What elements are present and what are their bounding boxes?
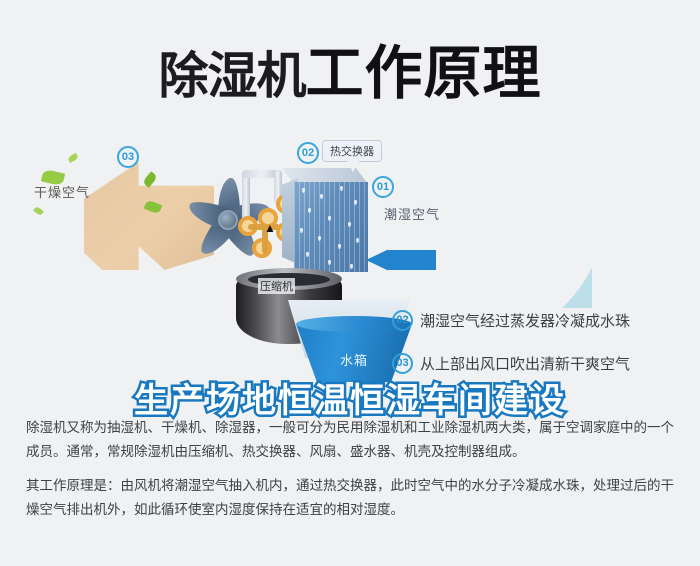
fan-hub xyxy=(218,210,238,230)
inlet-air-arrow-icon xyxy=(366,250,436,270)
heat-exchanger-fins xyxy=(294,182,368,272)
leaf-icon xyxy=(33,206,44,216)
diagram-badge-03: 03 xyxy=(117,146,139,168)
wet-air-label: 潮湿空气 xyxy=(384,204,440,223)
body-paragraph-1: 除湿机又称为抽湿机、干燥机、除湿器，一般可分为民用除湿机和工业除湿机两大类，属于… xyxy=(26,416,678,464)
body-text: 除湿机又称为抽湿机、干燥机、除湿器，一般可分为民用除湿机和工业除湿机两大类，属于… xyxy=(26,416,678,532)
list-item: 03 从上部出风口吹出清新干爽空气 xyxy=(392,348,692,378)
airflow-swoosh-secondary-icon xyxy=(430,215,580,311)
list-item: 02 潮湿空气经过蒸发器冷凝成水珠 xyxy=(392,305,692,335)
body-paragraph-2: 其工作原理是：由风机将潮湿空气抽入机内，通过热交换器，此时空气中的水分子冷凝成水… xyxy=(26,474,678,522)
heat-exchanger-callout: 热交换器 xyxy=(322,140,382,162)
page-title-part2: 工作原理 xyxy=(305,41,541,106)
compressor-label: 压缩机 xyxy=(258,278,295,294)
step-text: 从上部出风口吹出清新干爽空气 xyxy=(420,353,630,374)
flow-arrow-up-icon: ▲ xyxy=(264,222,276,234)
overlay-headline: 生产场地恒温恒湿车间建设 xyxy=(95,382,605,420)
diagram-badge-01: 01 xyxy=(372,176,394,198)
step-text: 潮湿空气经过蒸发器冷凝成水珠 xyxy=(420,310,630,331)
infographic-page: 除湿机工作原理 干燥空气 xyxy=(0,0,700,566)
diagram-badge-02: 02 xyxy=(297,142,319,164)
step-badge: 02 xyxy=(392,310,413,331)
leaf-icon xyxy=(67,153,79,163)
dry-air-label: 干燥空气 xyxy=(34,182,90,201)
page-title: 除湿机工作原理 xyxy=(0,26,700,110)
dehumidifier-diagram: 干燥空气 ▲ ▶ xyxy=(0,120,700,410)
step-list: 02 潮湿空气经过蒸发器冷凝成水珠 03 从上部出风口吹出清新干爽空气 xyxy=(392,305,692,391)
water-tank-label: 水箱 xyxy=(340,350,368,369)
step-badge: 03 xyxy=(392,353,413,374)
heat-exchanger-icon xyxy=(282,168,368,272)
page-title-part1: 除湿机 xyxy=(158,48,305,104)
